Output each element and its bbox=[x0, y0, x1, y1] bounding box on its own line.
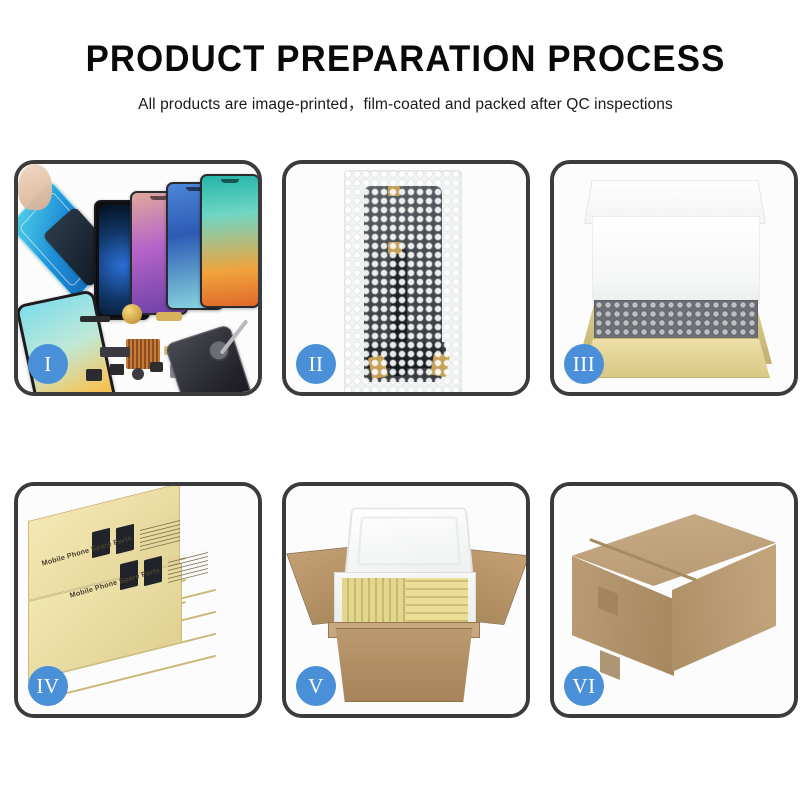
small-part-1-icon bbox=[110, 364, 124, 375]
carton-front-icon bbox=[328, 628, 480, 702]
header: PRODUCT PREPARATION PROCESS All products… bbox=[0, 0, 811, 114]
step-panel-2: II bbox=[282, 160, 530, 396]
small-part-5-icon bbox=[86, 369, 102, 381]
step-badge-2: II bbox=[296, 344, 336, 384]
yellow-boxes-row-2 bbox=[406, 578, 468, 628]
foam-sheet-icon bbox=[592, 216, 760, 304]
page-title: PRODUCT PREPARATION PROCESS bbox=[24, 40, 786, 77]
step-panel-4: Mobile Phone Spare Parts Mobile Phone Sp… bbox=[14, 482, 262, 718]
phone-display-d-icon bbox=[200, 174, 258, 308]
step-badge-5: V bbox=[296, 666, 336, 706]
box-front-icon bbox=[582, 338, 770, 378]
bubble-wrap-bag bbox=[344, 170, 462, 392]
product-preparation-infographic: PRODUCT PREPARATION PROCESS All products… bbox=[0, 0, 811, 811]
notch-icon bbox=[221, 179, 239, 183]
foam-lid-icon bbox=[344, 508, 473, 577]
step-badge-4: IV bbox=[28, 666, 68, 706]
earpiece-bar-icon bbox=[80, 316, 110, 322]
carton-tape-2-icon bbox=[600, 650, 620, 680]
flex-cable-2-icon bbox=[100, 347, 130, 357]
hand-icon bbox=[18, 164, 52, 210]
step-panel-5: V bbox=[282, 482, 530, 718]
speaker-component-icon bbox=[122, 304, 142, 324]
bubble-wrapped-contents-icon bbox=[594, 300, 758, 344]
process-step-grid: I II bbox=[14, 160, 797, 718]
small-part-3-icon bbox=[150, 362, 163, 372]
step-badge-3: III bbox=[564, 344, 604, 384]
step-panel-3: III bbox=[550, 160, 798, 396]
page-subtitle: All products are image-printed，film-coat… bbox=[0, 92, 811, 114]
bubble-texture bbox=[344, 170, 462, 392]
notch-icon bbox=[113, 205, 131, 209]
step-badge-1: I bbox=[28, 344, 68, 384]
step-badge-6: VI bbox=[564, 666, 604, 706]
small-part-2-icon bbox=[132, 368, 144, 380]
step-panel-6: VI bbox=[550, 482, 798, 718]
flex-cable-1-icon bbox=[156, 312, 182, 321]
step-panel-1: I bbox=[14, 160, 262, 396]
phone-back-housing-icon bbox=[165, 324, 258, 392]
